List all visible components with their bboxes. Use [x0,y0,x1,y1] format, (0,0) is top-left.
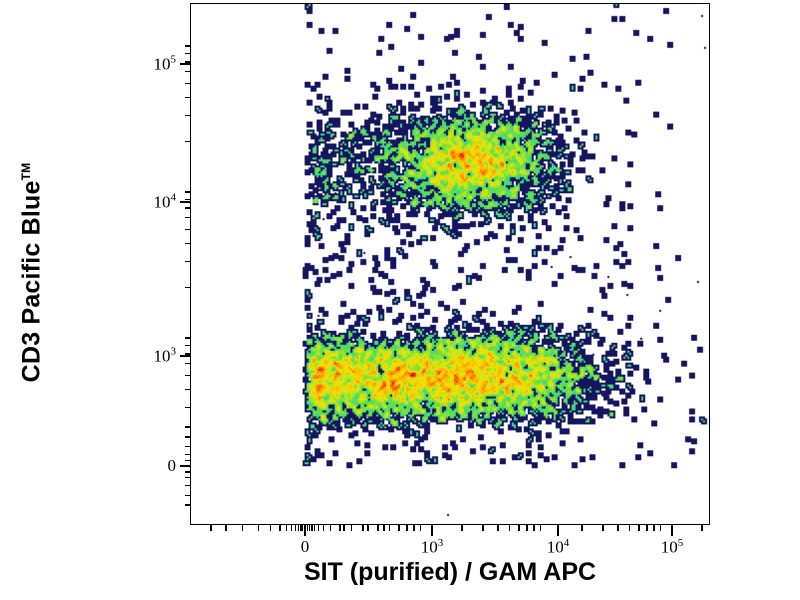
x-tick-label: 105 [661,537,684,558]
x-tick-label: 0 [301,537,310,557]
x-tick-minor [323,525,324,531]
x-tick-minor [581,525,582,531]
x-tick-minor [406,525,407,531]
x-tick-minor [540,525,541,531]
x-tick-minor [533,525,534,531]
x-tick-label: 103 [421,537,444,558]
x-tick-minor [461,525,462,531]
x-tick-minor [367,525,368,531]
x-tick-label: 104 [547,537,570,558]
x-tick-minor [602,525,603,531]
x-tick-minor [291,525,292,531]
x-tick-minor [258,525,259,531]
x-tick-minor [629,525,630,531]
x-axis-title: SIT (purified) / GAM APC [190,558,710,587]
figure-root: CD3 Pacific BlueTM 0103104105 0103104105… [0,0,800,600]
y-tick-label: 0 [168,456,177,476]
x-tick-major [557,525,558,536]
x-tick-minor [482,525,483,531]
x-tick-minor [242,525,243,531]
x-tick-minor [286,525,287,531]
trademark-symbol: TM [19,163,33,181]
y-axis-title: CD3 Pacific BlueTM [18,53,47,493]
x-tick-minor [343,525,344,531]
x-tick-minor [617,525,618,531]
x-tick-major [671,525,672,536]
x-tick-minor [646,525,647,531]
x-tick-minor [701,525,702,531]
x-tick-minor [225,525,226,531]
x-tick-major [431,525,432,536]
x-tick-minor [302,525,303,531]
x-tick-minor [311,525,312,531]
x-tick-minor [298,525,299,531]
x-tick-minor [210,525,211,531]
x-axis-ticks [0,525,800,537]
x-tick-minor [660,525,661,531]
x-tick-minor [295,525,296,531]
y-axis-title-base: CD3 Pacific Blue [18,180,46,382]
x-tick-minor [398,525,399,531]
x-tick-minor [526,525,527,531]
x-tick-minor [653,525,654,531]
scatter-density-canvas [191,4,709,524]
x-tick-minor [383,525,384,531]
y-tick-label: 103 [154,346,177,367]
x-tick-minor [413,525,414,531]
x-tick-minor [518,525,519,531]
x-tick-minor [304,525,305,531]
x-tick-minor [377,525,378,531]
x-tick-minor [339,525,340,531]
x-tick-minor [270,525,271,531]
x-tick-minor [389,525,390,531]
y-axis-tick-labels: 0103104105 [118,0,176,600]
y-tick-label: 104 [154,192,177,213]
plot-area[interactable] [190,3,710,525]
x-tick-minor [362,525,363,531]
y-tick-label: 105 [154,54,177,75]
x-tick-minor [330,525,331,531]
x-tick-minor [314,525,315,531]
x-tick-minor [638,525,639,531]
x-tick-minor [279,525,280,531]
x-tick-minor [509,525,510,531]
x-tick-minor [497,525,498,531]
x-tick-minor [318,525,319,531]
x-tick-minor [420,525,421,531]
x-tick-minor [351,525,352,531]
x-tick-minor [309,525,310,531]
